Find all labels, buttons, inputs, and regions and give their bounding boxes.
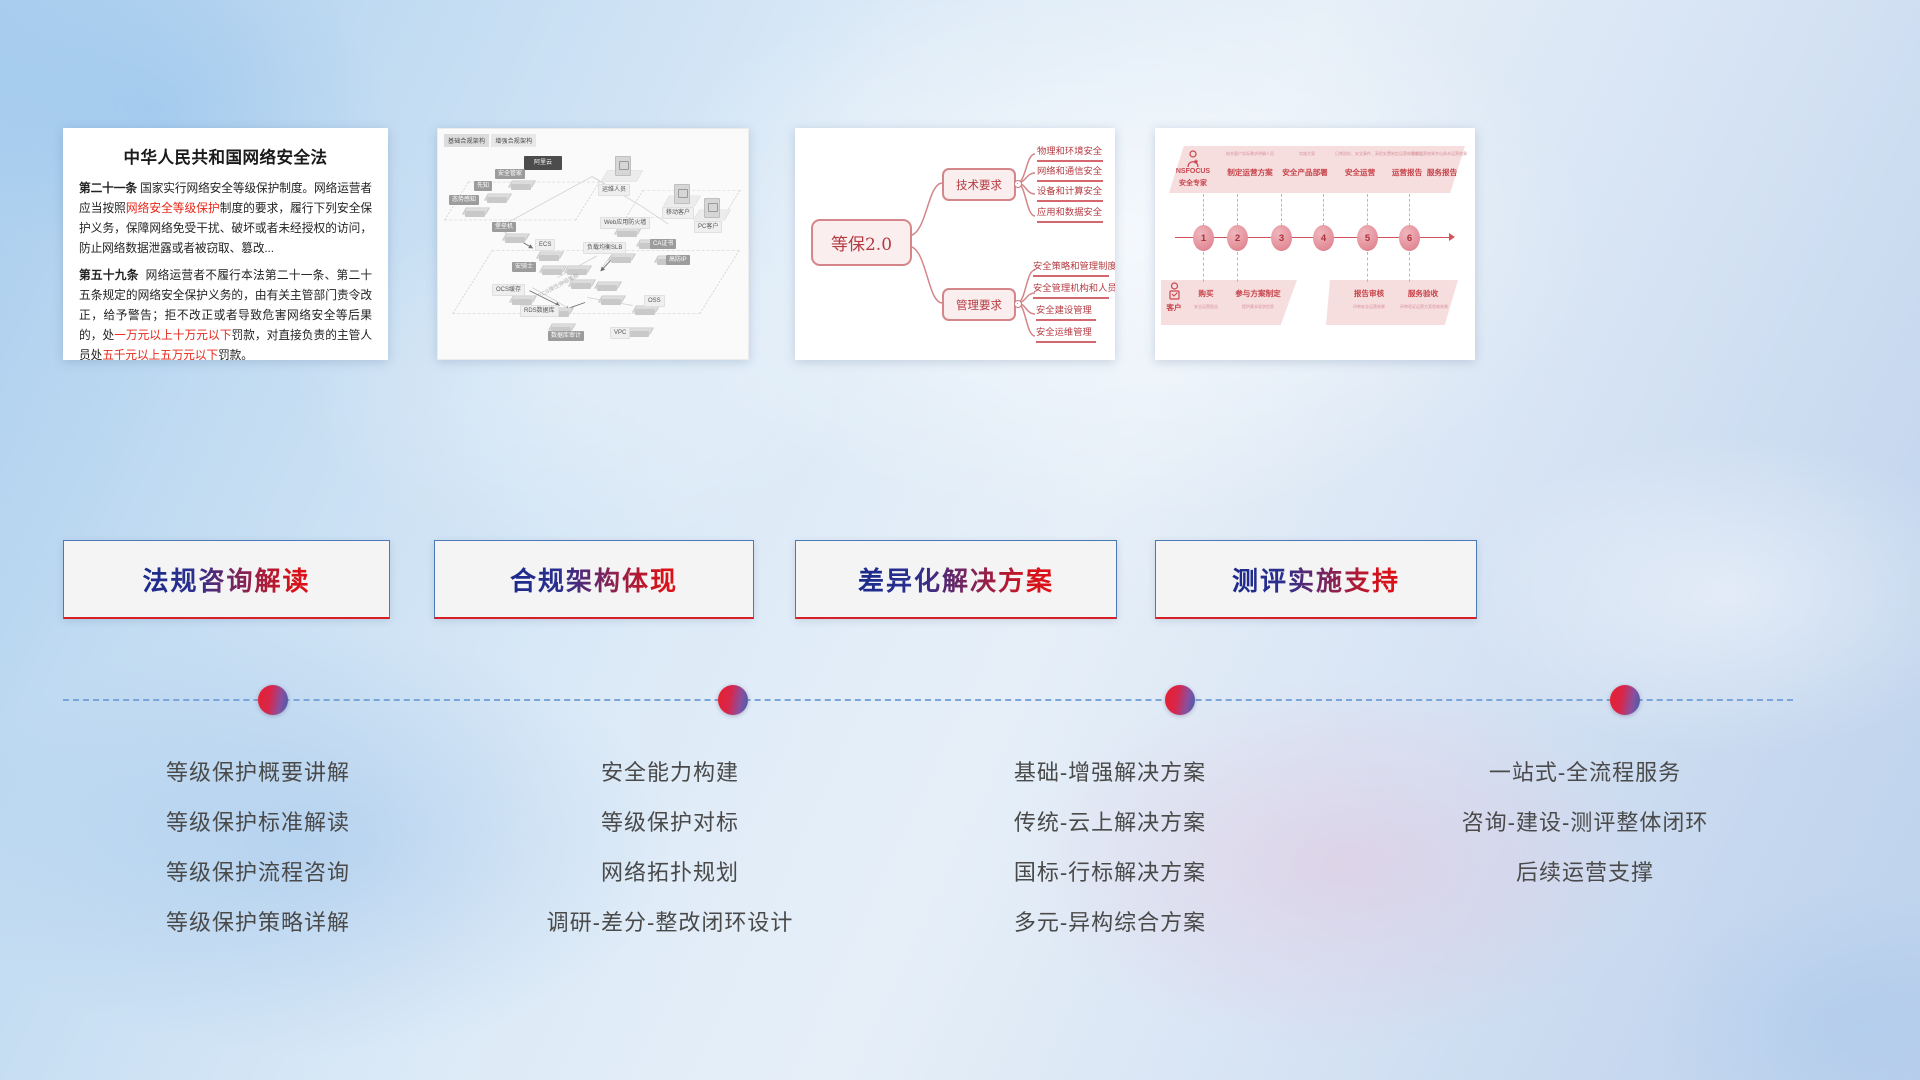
timeline-step-3: 3 (1271, 225, 1292, 251)
list-item: 等级保护概要讲解 (63, 748, 453, 798)
timeline-band-bottom-right (1326, 280, 1458, 325)
article-21-label: 第二十一条 (79, 182, 137, 195)
card-cybersecurity-law: 中华人民共和国网络安全法 第二十一条 国家实行网络安全等级保护制度。网络运营者应… (63, 128, 388, 360)
mindmap-leaf-policy-system: 安全策略和管理制度 (1033, 261, 1109, 277)
title-label-1: 法规咨询解读 (142, 561, 310, 598)
list-item: 国标-行标解决方案 (905, 848, 1315, 898)
title-label-3: 差异化解决方案 (858, 561, 1054, 598)
tab-enhanced-compliance[interactable]: 增强合规架构 (491, 134, 536, 147)
feature-list-2: 安全能力构建 等级保护对标 网络拓扑规划 调研-差分-整改闭环设计 (470, 748, 870, 948)
title-label-2: 合规架构体现 (510, 561, 678, 598)
card-compliance-architecture: 基础合规架构 增强合规架构 阿里云 运维人员 移动客户 PC客户 态势感知 先知… (437, 128, 749, 360)
list-item: 等级保护流程咨询 (63, 848, 453, 898)
customer-title: 客户 (1161, 302, 1187, 313)
list-item: 传统-云上解决方案 (905, 798, 1315, 848)
top-item-5-sub: 验收运营效果并出具本运营效果 (1407, 151, 1471, 157)
timeline-dot-2[interactable] (718, 685, 748, 715)
article-59-text-3: 罚款。 (218, 349, 253, 360)
timeline-dashed-line (63, 699, 1793, 701)
mindmap-branch-technical: 技术要求 (942, 168, 1016, 201)
bottom-item-3-sub: 评审安全运营效果 (1339, 304, 1399, 310)
expert-subtitle: 安全专家 (1167, 178, 1219, 188)
list-item: 多元-异构综合方案 (905, 898, 1315, 948)
label-mobile-client: 移动客户 (662, 207, 694, 219)
feature-list-1: 等级保护概要讲解 等级保护标准解读 等级保护流程咨询 等级保护策略详解 (63, 748, 453, 948)
mindmap-branch-management: 管理要求 (942, 288, 1016, 321)
label-pc-client: PC客户 (694, 221, 722, 233)
label-vpc: VPC (610, 327, 630, 339)
article-21-highlight: 网络安全等级保护 (126, 202, 220, 215)
timeline-step-5: 5 (1357, 225, 1378, 251)
mindmap-leaf-ops-mgmt: 安全运维管理 (1036, 327, 1096, 343)
timeline-dot-4[interactable] (1610, 685, 1640, 715)
mindmap-leaf-network-comm: 网络和通信安全 (1037, 166, 1103, 182)
mindmap-collapse-icon-management[interactable] (1014, 300, 1022, 308)
customer-person-icon (1167, 282, 1182, 300)
feature-list-4: 一站式-全流程服务 咨询-建设-测评整体闭环 后续运营支撑 (1365, 748, 1805, 898)
label-anti-ddos-ip: 高防IP (666, 255, 690, 265)
mindmap-root: 等保2.0 (811, 219, 912, 266)
label-aliyun: 阿里云 (524, 156, 562, 170)
expert-title: NSFOCUS (1167, 168, 1219, 175)
architecture-tabs[interactable]: 基础合规架构 增强合规架构 (444, 134, 536, 147)
label-bastion-host: 堡垒机 (492, 222, 516, 232)
label-ops-staff: 运维人员 (598, 184, 630, 196)
card-dengbao-mindmap: 等保2.0 技术要求 物理和环境安全 网络和通信安全 设备和计算安全 应用和数据… (795, 128, 1115, 360)
label-anqishi: 安骑士 (512, 262, 536, 272)
timeline-step-6: 6 (1399, 225, 1420, 251)
list-item: 一站式-全流程服务 (1365, 748, 1805, 798)
label-waf: Web应用防火墙 (600, 217, 650, 229)
timeline-dot-3[interactable] (1165, 685, 1195, 715)
bottom-item-1-title: 购买 (1189, 288, 1223, 299)
article-59-label: 第五十九条 (79, 269, 139, 282)
list-item: 后续运营支撑 (1365, 848, 1805, 898)
bottom-item-4-title: 服务验收 (1399, 288, 1447, 299)
label-ca-certificate: CA证书 (650, 239, 676, 249)
list-item: 安全能力构建 (470, 748, 870, 798)
bottom-item-1-sub: 安全运营报告 (1185, 304, 1227, 310)
label-rds-database: RDS数据库 (520, 305, 559, 317)
label-xianzhi: 先知 (474, 181, 492, 191)
feature-list-3: 基础-增强解决方案 传统-云上解决方案 国标-行标解决方案 多元-异构综合方案 (905, 748, 1315, 948)
label-slb: 负载均衡SLB (583, 242, 626, 254)
timeline-arrow-icon (1449, 233, 1455, 241)
article-59-highlight-2: 五千元以上五万元以下 (102, 349, 218, 360)
architecture-diagram: 基础合规架构 增强合规架构 阿里云 运维人员 移动客户 PC客户 态势感知 先知… (437, 128, 749, 360)
bottom-item-4-sub: 评审验证运营方案验收效果 (1393, 304, 1455, 310)
list-item: 调研-差分-整改闭环设计 (470, 898, 870, 948)
label-oss: OSS (644, 295, 665, 307)
list-item: 等级保护策略详解 (63, 898, 453, 948)
bottom-item-2-sub: 提供基本现状信息 (1227, 304, 1289, 310)
timeline-step-4: 4 (1313, 225, 1334, 251)
label-situational-awareness: 态势感知 (449, 195, 479, 205)
article-59-highlight-1: 一万元以上十万元以下 (114, 329, 231, 342)
label-database-audit: 数据库审计 (548, 331, 584, 341)
title-box-compliance-architecture[interactable]: 合规架构体现 (434, 540, 754, 619)
mindmap-leaf-construction-mgmt: 安全建设管理 (1036, 305, 1096, 321)
mindmap-leaf-device-compute: 设备和计算安全 (1037, 186, 1103, 202)
label-ocs-cache: OCS缓存 (492, 284, 525, 296)
list-item: 等级保护对标 (470, 798, 870, 848)
list-item: 基础-增强解决方案 (905, 748, 1315, 798)
timeline-step-2: 2 (1227, 225, 1248, 251)
mindmap-leaf-physical-env: 物理和环境安全 (1037, 146, 1103, 162)
title-box-regulation-consulting[interactable]: 法规咨询解读 (63, 540, 390, 619)
timeline-dot-1[interactable] (258, 685, 288, 715)
law-article-59: 第五十九条 网络运营者不履行本法第二十一条、第二十五条规定的网络安全保护义务的，… (79, 266, 372, 361)
card-nsfocus-service-timeline: NSFOCUS 安全专家 结合客户实际需求明确人员 制定运营方案 实施方案 安全… (1155, 128, 1475, 360)
list-item: 咨询-建设-测评整体闭环 (1365, 798, 1805, 848)
law-title: 中华人民共和国网络安全法 (79, 144, 372, 168)
law-article-21: 第二十一条 国家实行网络安全等级保护制度。网络运营者应当按照网络安全等级保护制度… (79, 179, 372, 260)
bottom-item-2-title: 参与方案制定 (1225, 288, 1291, 299)
mindmap-leaf-app-data: 应用和数据安全 (1037, 207, 1103, 223)
top-item-1-sub: 结合客户实际需求明确人员 (1215, 151, 1285, 157)
tab-basic-compliance[interactable]: 基础合规架构 (444, 134, 489, 147)
top-item-5-title: 服务报告 (1417, 167, 1467, 178)
title-label-4: 测评实施支持 (1232, 561, 1400, 598)
list-item: 等级保护标准解读 (63, 798, 453, 848)
expert-person-icon (1185, 150, 1201, 168)
timeline-step-1: 1 (1193, 225, 1214, 251)
top-item-2-sub: 实施方案 (1283, 151, 1331, 157)
label-security-butler: 安全管家 (495, 169, 525, 179)
bottom-item-3-title: 报告审核 (1345, 288, 1393, 299)
mindmap-collapse-icon-technical[interactable] (1014, 180, 1022, 188)
label-ecs: ECS (535, 239, 555, 251)
list-item: 网络拓扑规划 (470, 848, 870, 898)
mindmap-leaf-org-personnel: 安全管理机构和人员 (1033, 283, 1109, 299)
title-box-assessment-support[interactable]: 测评实施支持 (1155, 540, 1477, 619)
title-box-differentiated-solution[interactable]: 差异化解决方案 (795, 540, 1117, 619)
